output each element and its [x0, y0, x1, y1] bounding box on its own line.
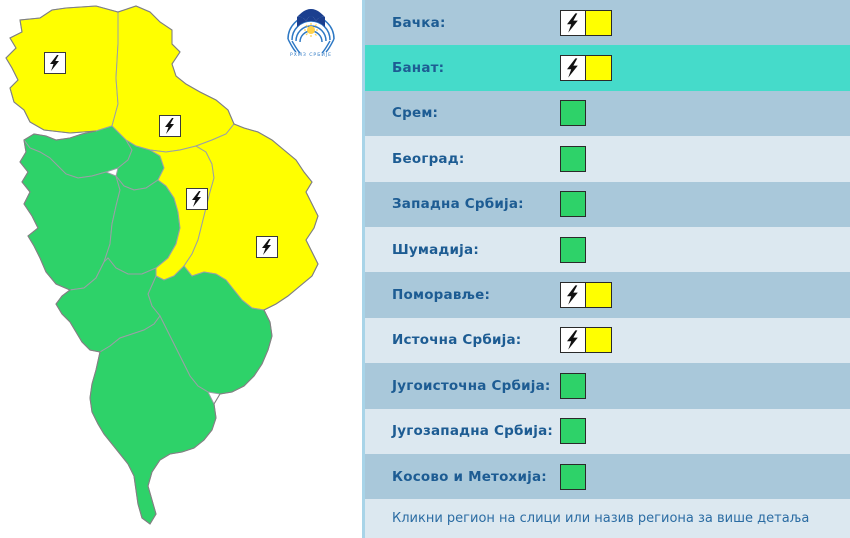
warning-level-box-green — [560, 191, 586, 217]
region-name-link[interactable]: Југозападна Србија: — [365, 423, 560, 439]
region-name-link[interactable]: Банат: — [365, 60, 560, 76]
region-warning-icons — [560, 464, 586, 490]
region-warning-icons — [560, 373, 586, 399]
region-name-link[interactable]: Косово и Метохија: — [365, 469, 560, 485]
warning-level-box-green — [560, 418, 586, 444]
region-warning-icons — [560, 327, 612, 353]
region-row[interactable]: Шумадија: — [365, 227, 850, 272]
region-warning-icons — [560, 418, 586, 444]
logo-caption: РХМЗ СРБИЈЕ — [290, 52, 332, 58]
region-name-link[interactable]: Источна Србија: — [365, 332, 560, 348]
map-marker-pomoravlje[interactable] — [186, 188, 208, 210]
region-row[interactable]: Западна Србија: — [365, 182, 850, 227]
thunderstorm-icon — [561, 11, 585, 35]
region-warning-icons — [560, 282, 612, 308]
map-marker-backa[interactable] — [44, 52, 66, 74]
warning-level-box-yellow — [586, 10, 612, 36]
region-row[interactable]: Срем: — [365, 91, 850, 136]
region-warning-icons — [560, 237, 586, 263]
warning-storm-box — [560, 282, 586, 308]
thunderstorm-icon — [257, 237, 277, 257]
warning-storm-box — [560, 55, 586, 81]
region-warning-icons — [560, 191, 586, 217]
thunderstorm-icon — [45, 53, 65, 73]
region-row[interactable]: Источна Србија: — [365, 318, 850, 363]
region-row[interactable]: Југоисточна Србија: — [365, 363, 850, 408]
region-warning-icons — [560, 146, 586, 172]
region-warning-icons — [560, 55, 612, 81]
rhmz-serbia-logo: РХМЗ СРБИЈЕ — [283, 3, 339, 61]
region-row[interactable]: Бачка: — [365, 0, 850, 45]
thunderstorm-icon — [561, 56, 585, 80]
region-name-link[interactable]: Западна Србија: — [365, 196, 560, 212]
region-name-link[interactable]: Срем: — [365, 105, 560, 121]
map-marker-istocna-srbija[interactable] — [256, 236, 278, 258]
warning-level-box-green — [560, 373, 586, 399]
thunderstorm-icon — [187, 189, 207, 209]
thunderstorm-icon — [561, 283, 585, 307]
region-row[interactable]: Косово и Метохија: — [365, 454, 850, 499]
warning-level-box-green — [560, 464, 586, 490]
warning-level-box-green — [560, 237, 586, 263]
region-row[interactable]: Банат: — [365, 45, 850, 90]
region-name-link[interactable]: Београд: — [365, 151, 560, 167]
footer-hint: Кликни регион на слици или назив региона… — [365, 499, 850, 538]
map-marker-banat[interactable] — [159, 115, 181, 137]
region-warning-icons — [560, 100, 586, 126]
serbia-map-svg[interactable] — [0, 0, 362, 538]
warning-level-box-yellow — [586, 55, 612, 81]
region-name-link[interactable]: Југоисточна Србија: — [365, 378, 560, 394]
warning-storm-box — [560, 10, 586, 36]
region-name-link[interactable]: Шумадија: — [365, 242, 560, 258]
warning-level-box-green — [560, 100, 586, 126]
thunderstorm-icon — [561, 328, 585, 352]
region-row[interactable]: Београд: — [365, 136, 850, 181]
region-name-link[interactable]: Поморавље: — [365, 287, 560, 303]
warning-level-box-yellow — [586, 282, 612, 308]
region-name-link[interactable]: Бачка: — [365, 15, 560, 31]
region-warning-icons — [560, 10, 612, 36]
serbia-warning-map[interactable]: РХМЗ СРБИЈЕ — [0, 0, 362, 538]
region-row[interactable]: Југозападна Србија: — [365, 409, 850, 454]
warning-level-box-yellow — [586, 327, 612, 353]
warning-storm-box — [560, 327, 586, 353]
region-rows-host: Бачка:Банат:Срем:Београд:Западна Србија:… — [365, 0, 850, 499]
weather-warning-page: РХМЗ СРБИЈЕ Бачка:Банат:Срем:Београд:Зап… — [0, 0, 850, 538]
warning-level-box-green — [560, 146, 586, 172]
region-row[interactable]: Поморавље: — [365, 272, 850, 317]
thunderstorm-icon — [160, 116, 180, 136]
region-warning-list: Бачка:Банат:Срем:Београд:Западна Србија:… — [362, 0, 850, 538]
